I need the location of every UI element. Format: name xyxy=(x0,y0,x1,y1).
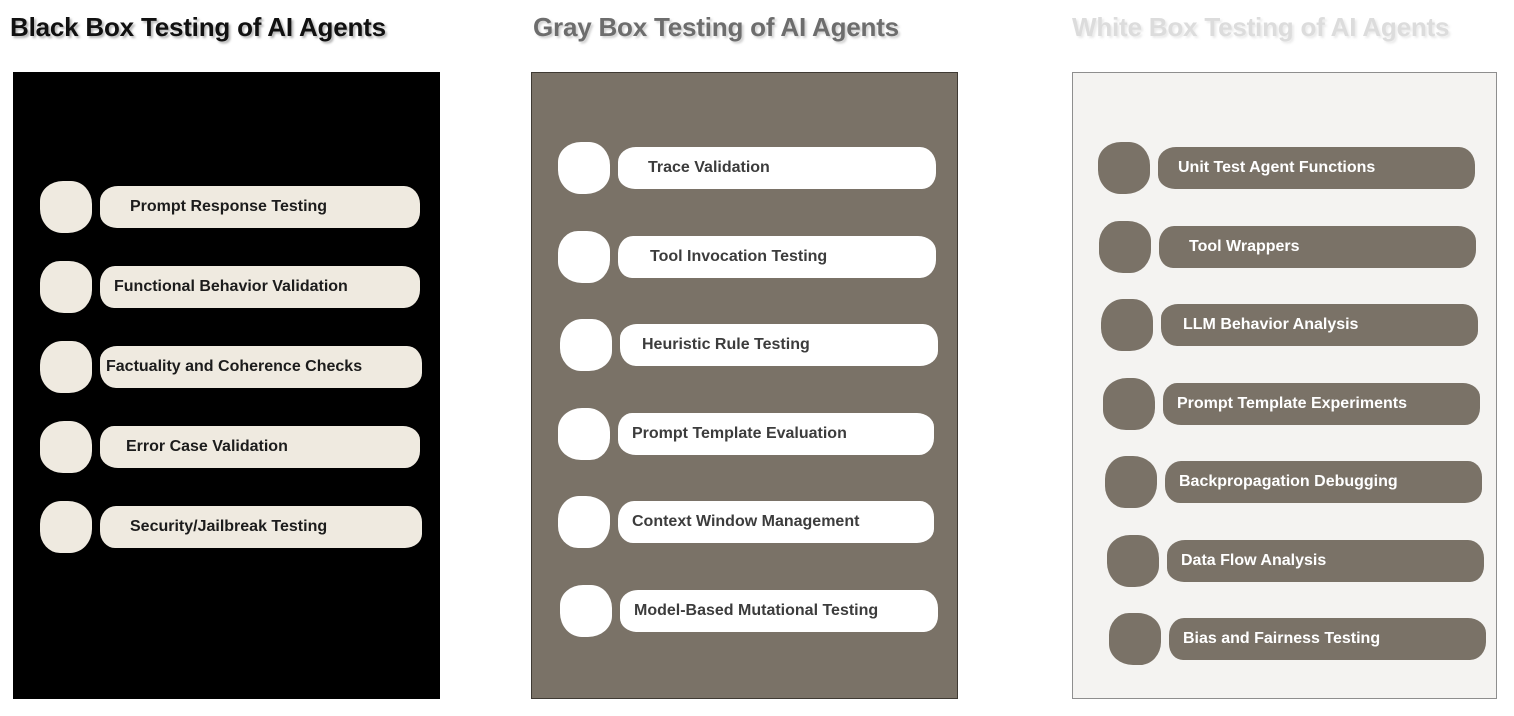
bullet-icon xyxy=(558,142,610,194)
item-list-white-box: Unit Test Agent FunctionsTool WrappersLL… xyxy=(1073,73,1496,698)
bullet-icon xyxy=(1105,456,1157,508)
list-item[interactable]: Security/Jailbreak Testing xyxy=(40,501,422,553)
list-item[interactable]: Context Window Management xyxy=(558,496,934,548)
column-gray-box: Gray Box Testing of AI Agents Trace Vali… xyxy=(519,0,979,716)
item-pill[interactable]: Tool Wrappers xyxy=(1159,226,1476,268)
item-label: Bias and Fairness Testing xyxy=(1183,631,1380,647)
list-item[interactable]: Factuality and Coherence Checks xyxy=(40,341,422,393)
column-title-black-box: Black Box Testing of AI Agents xyxy=(10,12,386,43)
item-label: LLM Behavior Analysis xyxy=(1183,317,1358,333)
item-pill[interactable]: Tool Invocation Testing xyxy=(618,236,936,278)
item-label: Error Case Validation xyxy=(126,439,288,455)
item-label: Model-Based Mutational Testing xyxy=(634,603,878,619)
list-item[interactable]: Data Flow Analysis xyxy=(1107,535,1484,587)
panel-black-box: Prompt Response TestingFunctional Behavi… xyxy=(13,72,440,699)
list-item[interactable]: Tool Wrappers xyxy=(1099,221,1476,273)
item-pill[interactable]: Error Case Validation xyxy=(100,426,420,468)
item-pill[interactable]: Context Window Management xyxy=(618,501,934,543)
panel-gray-box: Trace ValidationTool Invocation TestingH… xyxy=(531,72,958,699)
item-pill[interactable]: Prompt Response Testing xyxy=(100,186,420,228)
column-title-white-box: White Box Testing of AI Agents xyxy=(1072,12,1449,43)
list-item[interactable]: Backpropagation Debugging xyxy=(1105,456,1482,508)
bullet-icon xyxy=(558,408,610,460)
item-pill[interactable]: Security/Jailbreak Testing xyxy=(100,506,422,548)
item-label: Tool Wrappers xyxy=(1189,239,1300,255)
item-pill[interactable]: Data Flow Analysis xyxy=(1167,540,1484,582)
bullet-icon xyxy=(40,341,92,393)
item-label: Unit Test Agent Functions xyxy=(1178,160,1375,176)
item-pill[interactable]: Backpropagation Debugging xyxy=(1165,461,1482,503)
item-list-gray-box: Trace ValidationTool Invocation TestingH… xyxy=(532,73,957,698)
list-item[interactable]: Model-Based Mutational Testing xyxy=(560,585,938,637)
item-pill[interactable]: Bias and Fairness Testing xyxy=(1169,618,1486,660)
item-label: Security/Jailbreak Testing xyxy=(130,519,327,535)
column-white-box: White Box Testing of AI Agents Unit Test… xyxy=(1060,0,1514,716)
item-pill[interactable]: LLM Behavior Analysis xyxy=(1161,304,1478,346)
list-item[interactable]: Unit Test Agent Functions xyxy=(1098,142,1475,194)
item-label: Functional Behavior Validation xyxy=(114,279,348,295)
bullet-icon xyxy=(40,501,92,553)
list-item[interactable]: Prompt Response Testing xyxy=(40,181,420,233)
item-label: Factuality and Coherence Checks xyxy=(106,359,362,375)
item-label: Heuristic Rule Testing xyxy=(642,337,810,353)
bullet-icon xyxy=(560,585,612,637)
bullet-icon xyxy=(1107,535,1159,587)
list-item[interactable]: Trace Validation xyxy=(558,142,936,194)
bullet-icon xyxy=(560,319,612,371)
list-item[interactable]: Prompt Template Experiments xyxy=(1103,378,1480,430)
bullet-icon xyxy=(1099,221,1151,273)
item-label: Prompt Template Evaluation xyxy=(632,426,847,442)
panel-white-box: Unit Test Agent FunctionsTool WrappersLL… xyxy=(1072,72,1497,699)
list-item[interactable]: Prompt Template Evaluation xyxy=(558,408,934,460)
item-label: Data Flow Analysis xyxy=(1181,553,1326,569)
item-label: Backpropagation Debugging xyxy=(1179,474,1398,490)
column-title-gray-box: Gray Box Testing of AI Agents xyxy=(533,12,899,43)
list-item[interactable]: LLM Behavior Analysis xyxy=(1101,299,1478,351)
column-black-box: Black Box Testing of AI Agents Prompt Re… xyxy=(0,0,500,716)
bullet-icon xyxy=(1103,378,1155,430)
list-item[interactable]: Bias and Fairness Testing xyxy=(1109,613,1486,665)
item-label: Context Window Management xyxy=(632,514,859,530)
list-item[interactable]: Error Case Validation xyxy=(40,421,420,473)
bullet-icon xyxy=(40,421,92,473)
item-label: Prompt Template Experiments xyxy=(1177,396,1407,412)
bullet-icon xyxy=(40,261,92,313)
item-label: Tool Invocation Testing xyxy=(650,249,827,265)
list-item[interactable]: Heuristic Rule Testing xyxy=(560,319,938,371)
item-pill[interactable]: Prompt Template Evaluation xyxy=(618,413,934,455)
bullet-icon xyxy=(1109,613,1161,665)
item-list-black-box: Prompt Response TestingFunctional Behavi… xyxy=(14,73,439,698)
item-pill[interactable]: Trace Validation xyxy=(618,147,936,189)
item-pill[interactable]: Unit Test Agent Functions xyxy=(1158,147,1475,189)
bullet-icon xyxy=(1098,142,1150,194)
item-label: Prompt Response Testing xyxy=(130,199,327,215)
testing-taxonomy-board: Black Box Testing of AI Agents Prompt Re… xyxy=(0,0,1514,716)
item-label: Trace Validation xyxy=(648,160,770,176)
item-pill[interactable]: Heuristic Rule Testing xyxy=(620,324,938,366)
list-item[interactable]: Tool Invocation Testing xyxy=(558,231,936,283)
item-pill[interactable]: Functional Behavior Validation xyxy=(100,266,420,308)
bullet-icon xyxy=(558,231,610,283)
item-pill[interactable]: Model-Based Mutational Testing xyxy=(620,590,938,632)
bullet-icon xyxy=(40,181,92,233)
bullet-icon xyxy=(1101,299,1153,351)
item-pill[interactable]: Prompt Template Experiments xyxy=(1163,383,1480,425)
item-pill[interactable]: Factuality and Coherence Checks xyxy=(100,346,422,388)
bullet-icon xyxy=(558,496,610,548)
list-item[interactable]: Functional Behavior Validation xyxy=(40,261,420,313)
